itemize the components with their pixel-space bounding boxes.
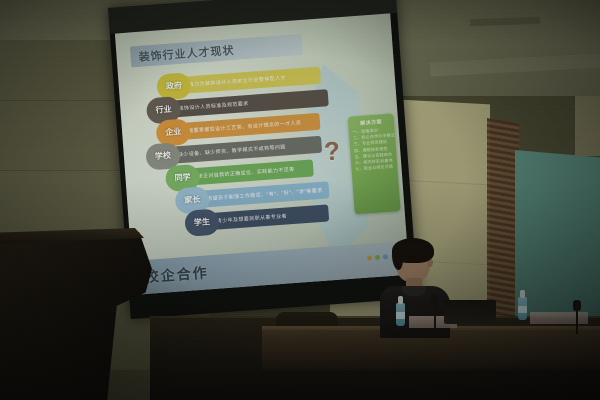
slide-title: 装饰行业人才现状 (130, 41, 235, 65)
solution-box: 解决方案 一、加强培训二、校企合作办学模式三、专业师资建设四、课程体系规范五、理… (348, 113, 401, 214)
right-wall-edge (575, 96, 600, 156)
microphone-right (575, 300, 579, 334)
solution-list-item: 七、就业与岗位对接 (355, 164, 394, 173)
funnel-row-text: 缺乏对自我的正确定位、实践能力不足等 (197, 166, 294, 180)
funnel-row-label: 企业 (155, 118, 191, 146)
funnel-row-label: 政府 (156, 72, 192, 100)
funnel-row-text: 青少年及想要就职从事专业者 (217, 212, 288, 224)
slide-title-bar: 装饰行业人才现状 (130, 34, 303, 68)
water-bottle-right (518, 290, 527, 320)
funnel-row-text: 希望孩子能够工作稳定、"有"、"好"、"学"等要求 (207, 187, 323, 202)
ceiling-vent (470, 17, 540, 26)
photo-scene: 装饰行业人才现状 ? 致力为装饰设计人员树立行业整体型人才政府装饰设计人员标准及… (0, 0, 600, 400)
screen-surface: 装饰行业人才现状 ? 致力为装饰设计人员树立行业整体型人才政府装饰设计人员标准及… (115, 13, 409, 295)
microphone-center (433, 294, 437, 328)
papers-right (530, 312, 588, 324)
laptop-lid (444, 300, 496, 324)
laptop (442, 300, 500, 328)
solution-list: 一、加强培训二、校企合作办学模式三、专业师资建设四、课程体系规范五、理论与实践结… (352, 127, 395, 173)
projection-screen: 装饰行业人才现状 ? 致力为装饰设计人员树立行业整体型人才政府装饰设计人员标准及… (108, 0, 418, 319)
water-bottle-left (396, 296, 405, 326)
presenter-hair-side (392, 244, 403, 270)
funnel-rows: 致力为装饰设计人员树立行业整体型人才政府装饰设计人员标准及规范要求行业需要掌握型… (136, 62, 337, 236)
funnel-row-text: 装饰设计人员标准及规范要求 (178, 100, 249, 112)
dot-orange (367, 255, 372, 260)
funnel-row-text: 致力为装饰设计人员树立行业整体型人才 (189, 74, 286, 88)
funnel-row-label: 学生 (184, 208, 220, 236)
slide-footer-text: 校企合作 (144, 262, 209, 287)
presenter-collar (402, 286, 426, 296)
funnel-row-text: 缺少设备、缺少师资、教学模式不成熟等问题 (178, 143, 286, 158)
presentation-slide: 装饰行业人才现状 ? 致力为装饰设计人员树立行业整体型人才政府装饰设计人员标准及… (115, 13, 409, 295)
funnel-row-text: 需要掌握型设计工艺类、有设计理念的一才人员 (188, 119, 302, 134)
